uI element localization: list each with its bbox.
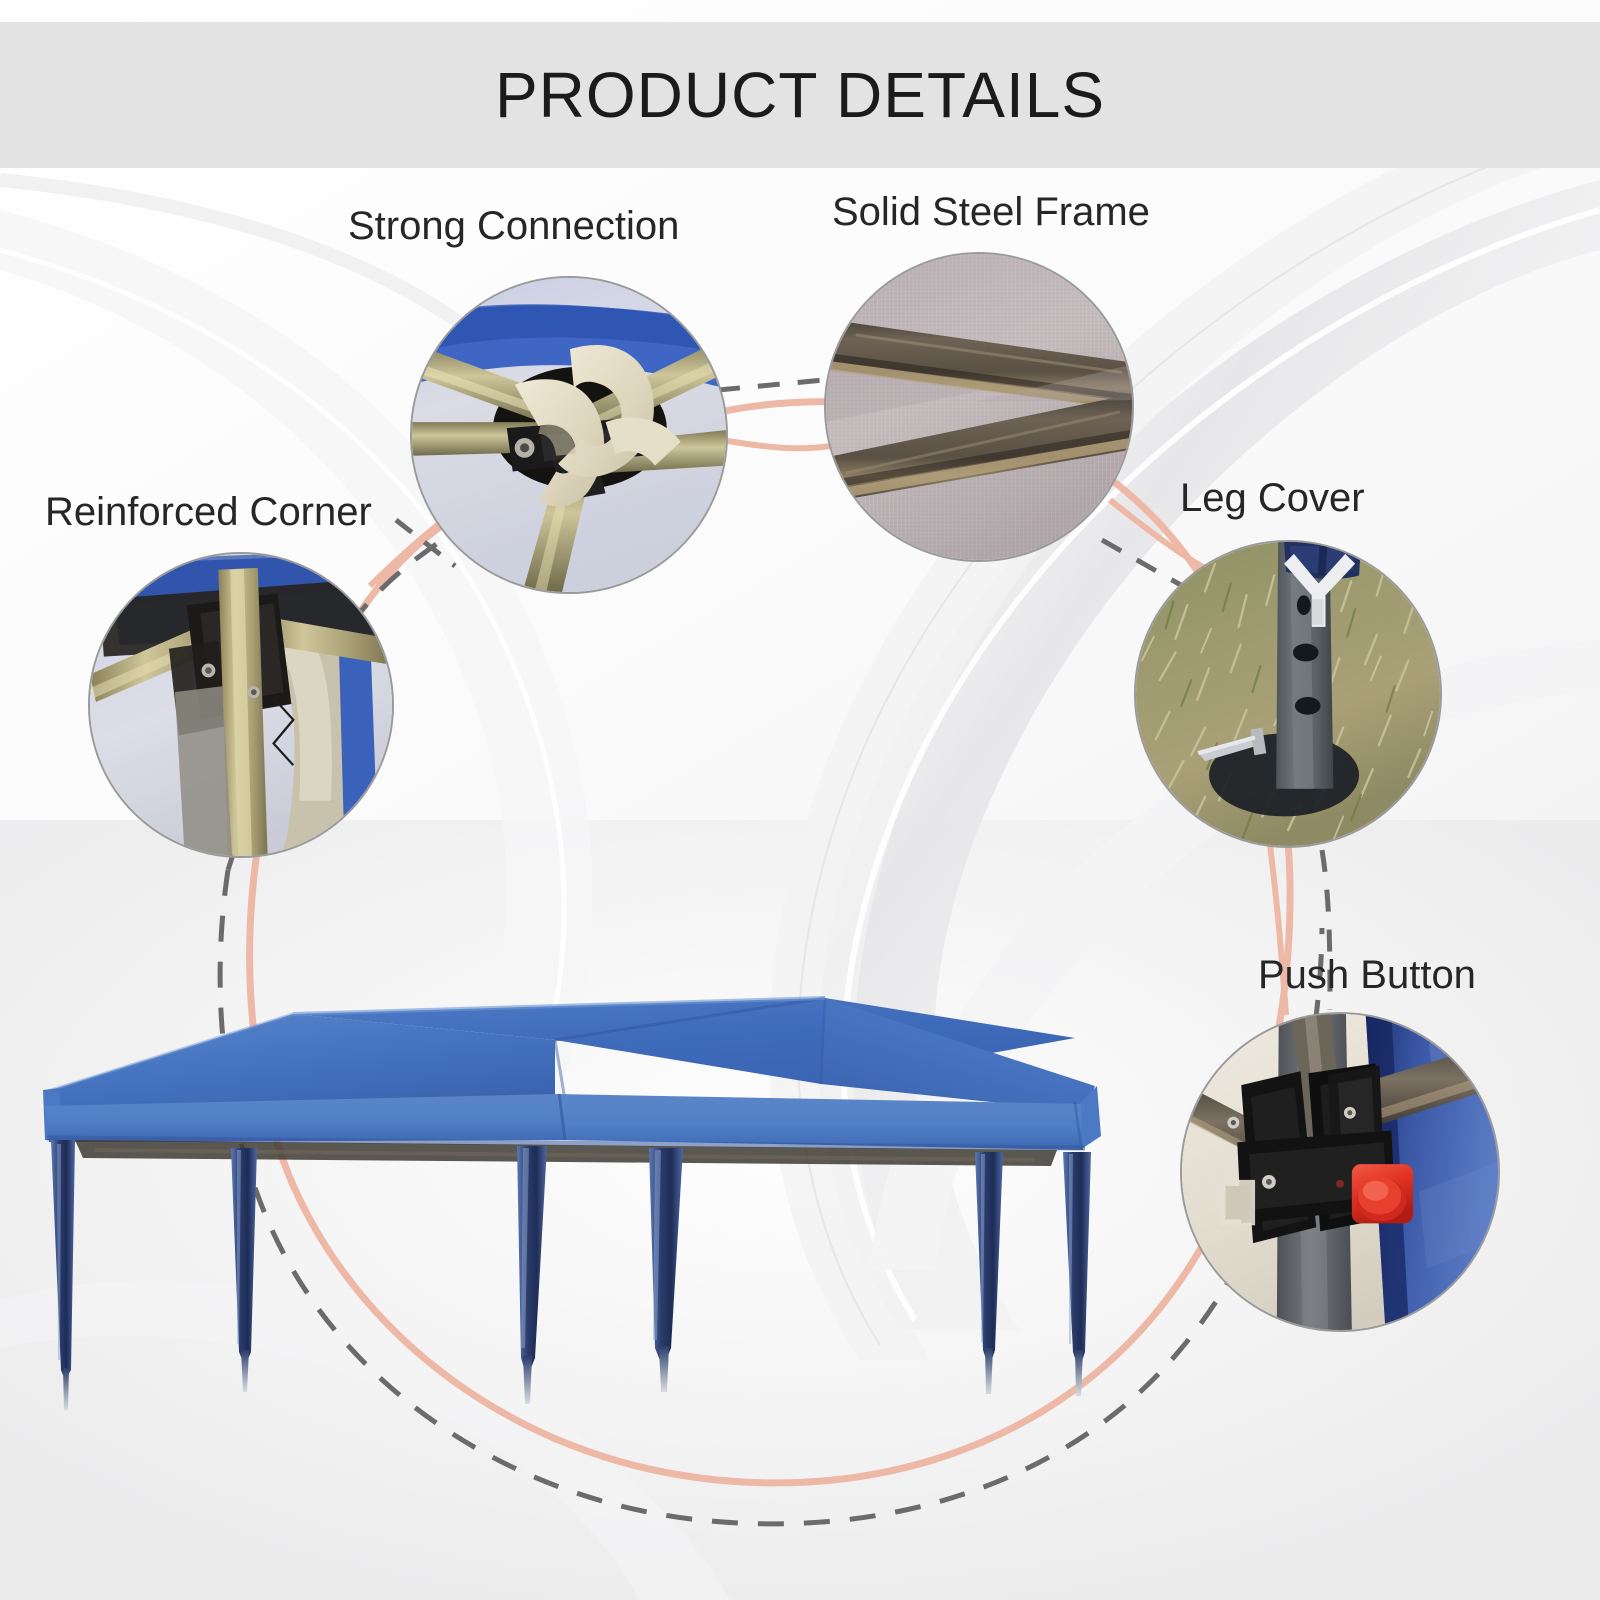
solid-steel-frame-photo <box>826 254 1132 560</box>
product-photo-gazebo <box>35 980 1105 1420</box>
label-leg-cover: Leg Cover <box>1180 478 1365 518</box>
product-details-infographic: PRODUCT DETAILS <box>0 0 1600 1600</box>
label-solid-steel-frame: Solid Steel Frame <box>832 192 1150 232</box>
callout-leg-cover[interactable] <box>1134 540 1442 848</box>
gazebo-legs <box>51 1140 1091 1410</box>
callout-push-button[interactable] <box>1180 1012 1500 1332</box>
page-title: PRODUCT DETAILS <box>0 22 1600 168</box>
callout-reinforced-corner[interactable] <box>88 552 394 858</box>
reinforced-corner-photo <box>90 554 392 856</box>
callout-solid-steel-frame[interactable] <box>824 252 1134 562</box>
push-button-photo <box>1182 1014 1498 1330</box>
leg-cover-photo <box>1136 542 1440 846</box>
label-reinforced-corner: Reinforced Corner <box>45 492 372 532</box>
label-strong-connection: Strong Connection <box>348 206 679 246</box>
label-push-button: Push Button <box>1258 955 1476 995</box>
strong-connection-photo <box>412 278 726 592</box>
callout-strong-connection[interactable] <box>410 276 728 594</box>
